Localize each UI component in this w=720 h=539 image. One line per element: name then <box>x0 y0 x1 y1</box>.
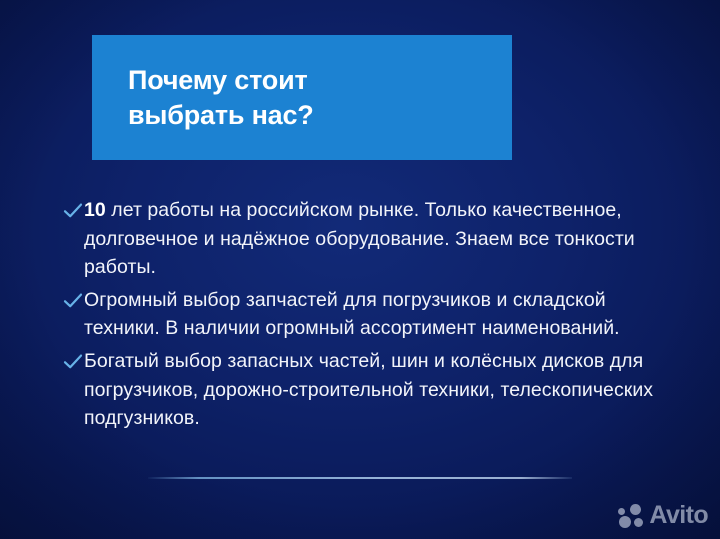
list-item-body: лет работы на российском рынке. Только к… <box>84 199 635 278</box>
avito-wordmark: Avito <box>649 503 708 528</box>
list-item-lead: 10 <box>84 199 106 221</box>
list-item-text: Огромный выбор запчастей для погрузчиков… <box>84 286 672 343</box>
check-icon <box>62 200 84 226</box>
avito-dot-top-left <box>618 508 625 515</box>
list-item-text: Богатый выбор запасных частей, шин и кол… <box>84 347 672 433</box>
check-icon <box>62 290 84 316</box>
list-item-body: Богатый выбор запасных частей, шин и кол… <box>84 350 653 429</box>
list-item-text: 10 лет работы на российском рынке. Тольк… <box>84 196 672 282</box>
avito-dot-bottom-right <box>634 518 643 527</box>
list-item: 10 лет работы на российском рынке. Тольк… <box>62 196 672 282</box>
avito-logo-icon <box>618 504 644 528</box>
benefits-list: 10 лет работы на российском рынке. Тольк… <box>62 196 672 437</box>
list-item: Огромный выбор запчастей для погрузчиков… <box>62 286 672 343</box>
avito-dot-bottom-left <box>619 516 631 528</box>
page-title: Почему стоит выбрать нас? <box>92 63 314 131</box>
slide-canvas: Почему стоит выбрать нас? 10 лет работы … <box>0 0 720 539</box>
check-icon <box>62 351 84 377</box>
avito-watermark: Avito <box>618 503 708 528</box>
list-item: Богатый выбор запасных частей, шин и кол… <box>62 347 672 433</box>
list-item-body: Огромный выбор запчастей для погрузчиков… <box>84 289 620 340</box>
avito-dot-top-right <box>630 504 641 515</box>
divider <box>148 477 572 479</box>
title-banner: Почему стоит выбрать нас? <box>92 35 512 160</box>
